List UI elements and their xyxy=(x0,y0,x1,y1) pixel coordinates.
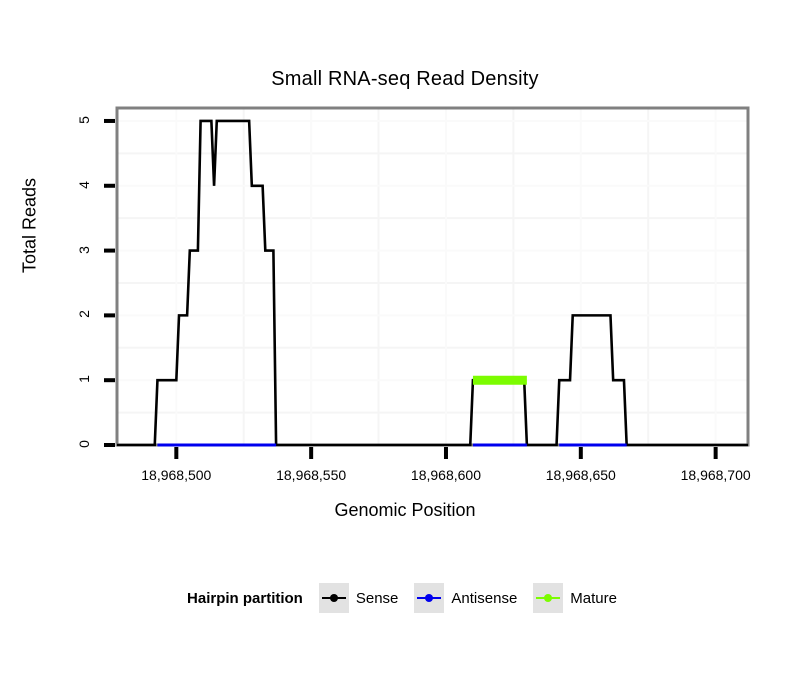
x-tick-label: 18,968,500 xyxy=(141,467,211,483)
legend-label-mature: Mature xyxy=(570,590,617,607)
legend-label-sense: Sense xyxy=(356,590,399,607)
y-tick-label: 2 xyxy=(76,305,92,323)
x-tick-label: 18,968,600 xyxy=(411,467,481,483)
legend-entry-antisense[interactable]: Antisense xyxy=(414,583,517,613)
y-tick-label: 0 xyxy=(76,435,92,453)
legend-title: Hairpin partition xyxy=(187,590,303,607)
legend-key-sense-icon xyxy=(319,583,349,613)
y-tick-label: 3 xyxy=(76,241,92,259)
y-axis-label: Total Reads xyxy=(20,116,41,336)
chart-figure: Small RNA-seq Read Density Total Reads G… xyxy=(0,0,810,690)
legend-key-antisense-icon xyxy=(414,583,444,613)
x-axis-label: Genomic Position xyxy=(0,500,810,521)
legend-key-mature-icon xyxy=(533,583,563,613)
y-tick-label: 4 xyxy=(76,176,92,194)
x-tick-label: 18,968,700 xyxy=(681,467,751,483)
legend-label-antisense: Antisense xyxy=(451,590,517,607)
y-tick-label: 5 xyxy=(76,111,92,129)
x-tick-label: 18,968,650 xyxy=(546,467,616,483)
legend-entry-sense[interactable]: Sense xyxy=(319,583,399,613)
x-tick-label: 18,968,550 xyxy=(276,467,346,483)
legend: Hairpin partition Sense Antisense Mature xyxy=(0,583,810,613)
legend-entry-mature[interactable]: Mature xyxy=(533,583,617,613)
y-tick-label: 1 xyxy=(76,370,92,388)
